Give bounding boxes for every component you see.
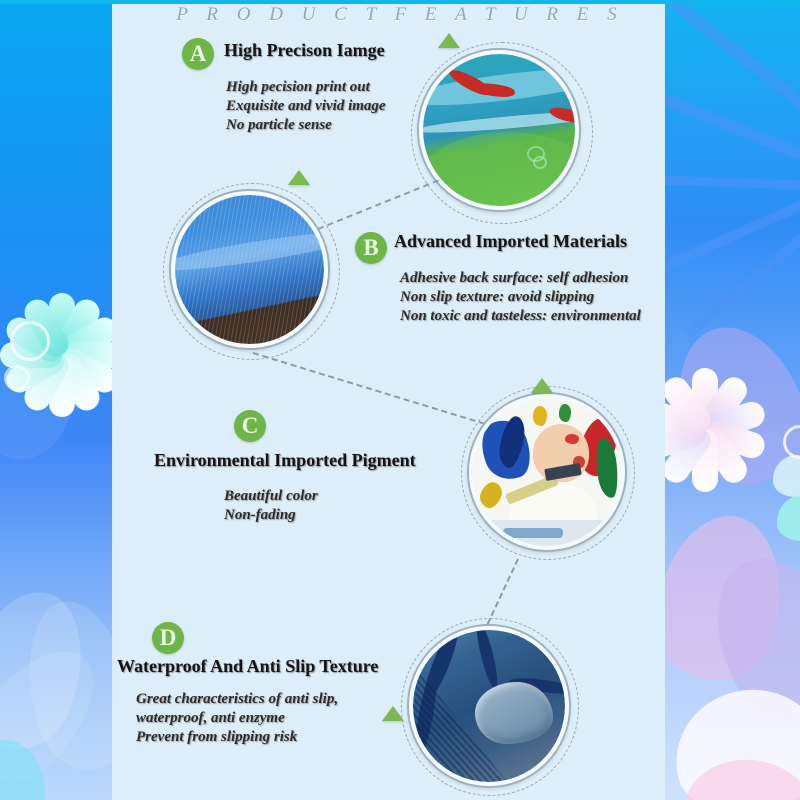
page-title: P R O D U C T F E A T U R E S bbox=[0, 4, 800, 26]
connector-c-to-d bbox=[487, 559, 519, 625]
feature-badge-a: A bbox=[182, 38, 214, 70]
paint-splatter bbox=[594, 437, 620, 499]
feature-title-b: Advanced Imported Materials bbox=[394, 231, 627, 252]
connector-b-to-c bbox=[253, 352, 504, 431]
paint-floor-mark bbox=[503, 528, 563, 538]
left-gap bbox=[112, 0, 130, 800]
feature-photo-a bbox=[419, 50, 579, 210]
arrow-to-photo-d bbox=[382, 706, 404, 721]
water-droplet bbox=[475, 682, 553, 744]
feature-line: Non slip texture: avoid slipping bbox=[400, 288, 641, 307]
paint-splatter bbox=[533, 406, 547, 426]
baby-painting-photo bbox=[473, 398, 621, 546]
photo-ring bbox=[171, 191, 328, 348]
left-decor-band bbox=[0, 0, 112, 800]
feature-title-d: Waterproof And Anti Slip Texture bbox=[117, 656, 378, 677]
blue-textured-fabric-photo bbox=[175, 195, 324, 344]
right-decor-band bbox=[665, 0, 800, 800]
feature-photo-d bbox=[409, 626, 569, 786]
feature-body-b: Adhesive back surface: self adhesion Non… bbox=[400, 269, 641, 326]
paint-splatter bbox=[559, 404, 571, 422]
petal-shape bbox=[777, 495, 800, 541]
paint-splatter bbox=[476, 479, 505, 511]
photo-ring bbox=[409, 626, 569, 786]
koi-pond-print-photo bbox=[423, 54, 575, 206]
feature-body-a: High pecision print out Exquisite and vi… bbox=[226, 78, 386, 135]
right-gap bbox=[643, 0, 665, 800]
rosette-swirl bbox=[4, 365, 30, 391]
photo-ring bbox=[469, 394, 625, 550]
connector-a-to-b bbox=[318, 179, 439, 230]
feature-badge-c: C bbox=[234, 410, 266, 442]
feature-line: Adhesive back surface: self adhesion bbox=[400, 269, 641, 288]
feature-body-d: Great characteristics of anti slip, wate… bbox=[136, 690, 338, 747]
feature-photo-c bbox=[469, 394, 625, 550]
feature-photo-b bbox=[171, 191, 328, 348]
photo-ring bbox=[419, 50, 579, 210]
feature-line: waterproof, anti enzyme bbox=[136, 709, 338, 728]
arrow-to-photo-a bbox=[438, 33, 460, 48]
feature-line: Non toxic and tasteless: environmental bbox=[400, 307, 641, 326]
paint-cheek-mark bbox=[565, 434, 579, 444]
fabric-texture bbox=[175, 195, 324, 344]
lily-pad-shade bbox=[423, 132, 575, 206]
facet-shape bbox=[665, 175, 800, 192]
feature-body-c: Beautiful color Non-fading bbox=[224, 487, 318, 525]
feature-line: Prevent from slipping risk bbox=[136, 728, 338, 747]
rosette-swirl bbox=[10, 321, 50, 361]
feature-line: Exquisite and vivid image bbox=[226, 97, 386, 116]
water-droplet-texture-photo bbox=[413, 630, 565, 782]
feature-line: Beautiful color bbox=[224, 487, 318, 506]
feature-line: Great characteristics of anti slip, bbox=[136, 690, 338, 709]
product-features-poster: P R O D U C T F E A T U R E S A High Pre… bbox=[0, 0, 800, 800]
feature-badge-d: D bbox=[152, 622, 184, 654]
arrow-to-photo-b bbox=[288, 170, 310, 185]
feature-line: No particle sense bbox=[226, 116, 386, 135]
feature-title-a: High Precison Iamge bbox=[224, 40, 385, 61]
facet-shape bbox=[665, 85, 800, 190]
feature-badge-b: B bbox=[355, 232, 387, 264]
marble-vein bbox=[473, 630, 502, 690]
feature-title-c: Environmental Imported Pigment bbox=[154, 450, 416, 471]
feature-line: Non-fading bbox=[224, 506, 318, 525]
feature-line: High pecision print out bbox=[226, 78, 386, 97]
arrow-to-photo-c bbox=[531, 378, 553, 393]
